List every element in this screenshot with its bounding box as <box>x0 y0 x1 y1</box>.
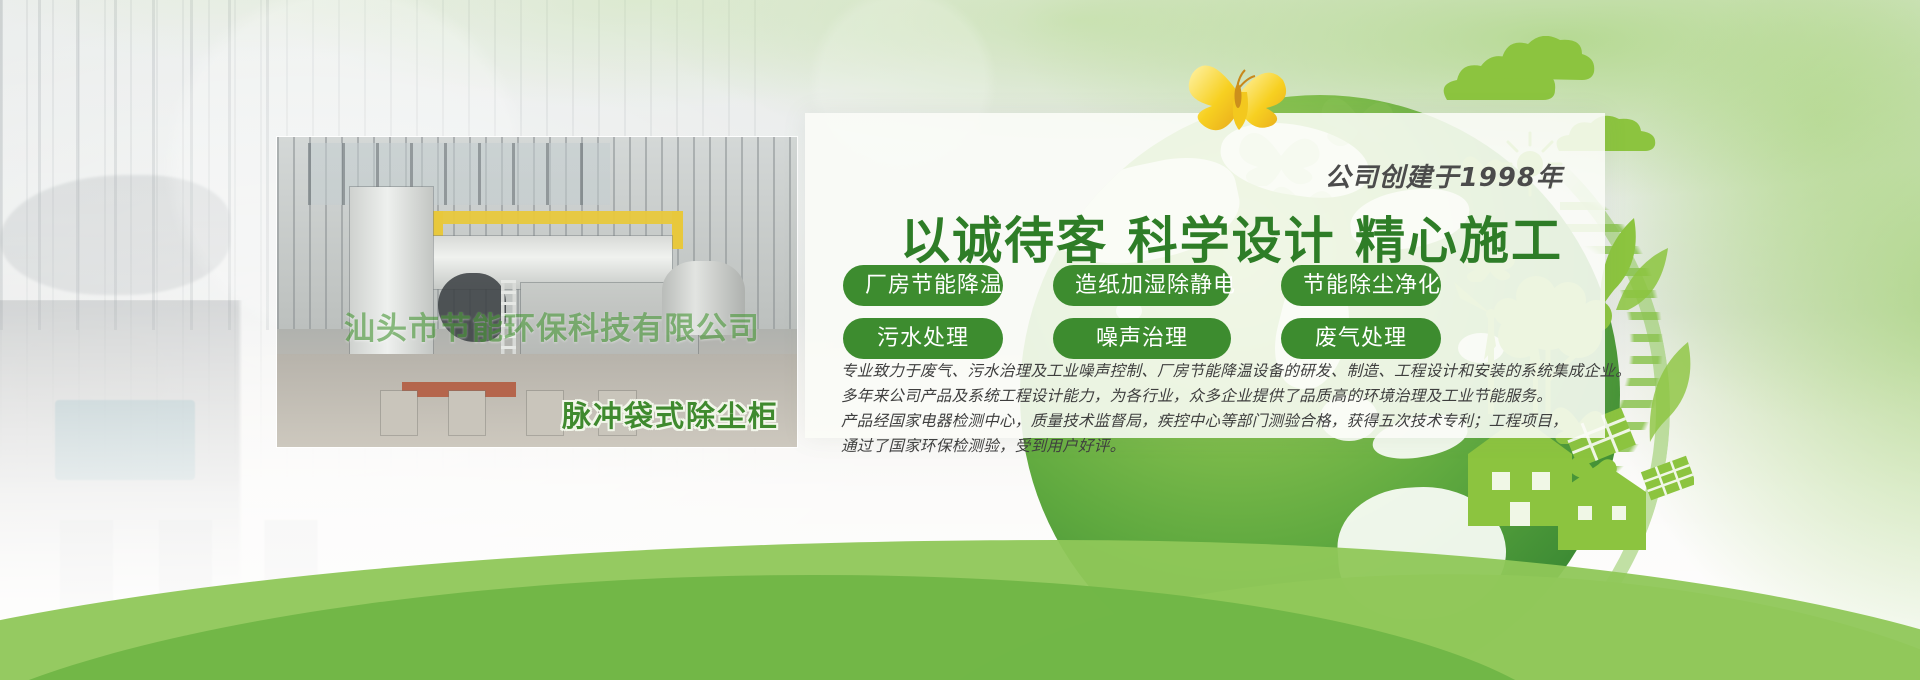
service-pill-row-2: 污水处理 噪声治理 废气处理 <box>805 318 1605 359</box>
service-pill-energy-dust-purification[interactable]: 节能除尘净化 <box>1281 265 1441 306</box>
product-photo-caption: 脉冲袋式除尘柜 <box>562 393 779 435</box>
company-description: 专业致力于废气、污水治理及工业噪声控制、厂房节能降温设备的研发、制造、工程设计和… <box>841 359 1583 459</box>
butterfly-icon <box>1185 48 1293 134</box>
description-line: 产品经国家电器检测中心，质量技术监督局，疾控中心等部门测验合格，获得五次技术专利… <box>841 409 1583 434</box>
promo-content-card: 公司创建于1998年 以诚待客 科学设计 精心施工 厂房节能降温 造纸加湿除静电… <box>805 113 1605 438</box>
promotional-banner: 脉冲袋式除尘柜 汕头市节能环保科技有限公司 公司创建于1998年 以诚待客 科学… <box>0 0 1920 680</box>
service-pill-row-1: 厂房节能降温 造纸加湿除静电 节能除尘净化 <box>805 265 1605 306</box>
established-label: 公司创建于1998年 <box>1325 157 1563 194</box>
cloud-icon <box>1486 36 1616 90</box>
description-line: 专业致力于废气、污水治理及工业噪声控制、厂房节能降温设备的研发、制造、工程设计和… <box>841 359 1583 384</box>
description-line: 多年来公司产品及系统工程设计能力，为各行业，众多企业提供了品质高的环境治理及工业… <box>841 384 1583 409</box>
service-pill-paper-humidify-antistatic[interactable]: 造纸加湿除静电 <box>1053 265 1231 306</box>
service-pill-waste-gas-treatment[interactable]: 废气处理 <box>1281 318 1441 359</box>
page-title: 以诚待客 科学设计 精心施工 <box>900 201 1563 273</box>
service-pill-noise-control[interactable]: 噪声治理 <box>1053 318 1231 359</box>
service-pill-wastewater-treatment[interactable]: 污水处理 <box>843 318 1003 359</box>
service-pill-factory-cooling[interactable]: 厂房节能降温 <box>843 265 1003 306</box>
leaf-icon <box>1636 316 1716 446</box>
product-photo-frame: 脉冲袋式除尘柜 <box>277 137 797 447</box>
description-line: 通过了国家环保检测验，受到用户好评。 <box>841 434 1583 459</box>
service-pill-group: 厂房节能降温 造纸加湿除静电 节能除尘净化 污水处理 噪声治理 废气处理 <box>805 265 1605 371</box>
